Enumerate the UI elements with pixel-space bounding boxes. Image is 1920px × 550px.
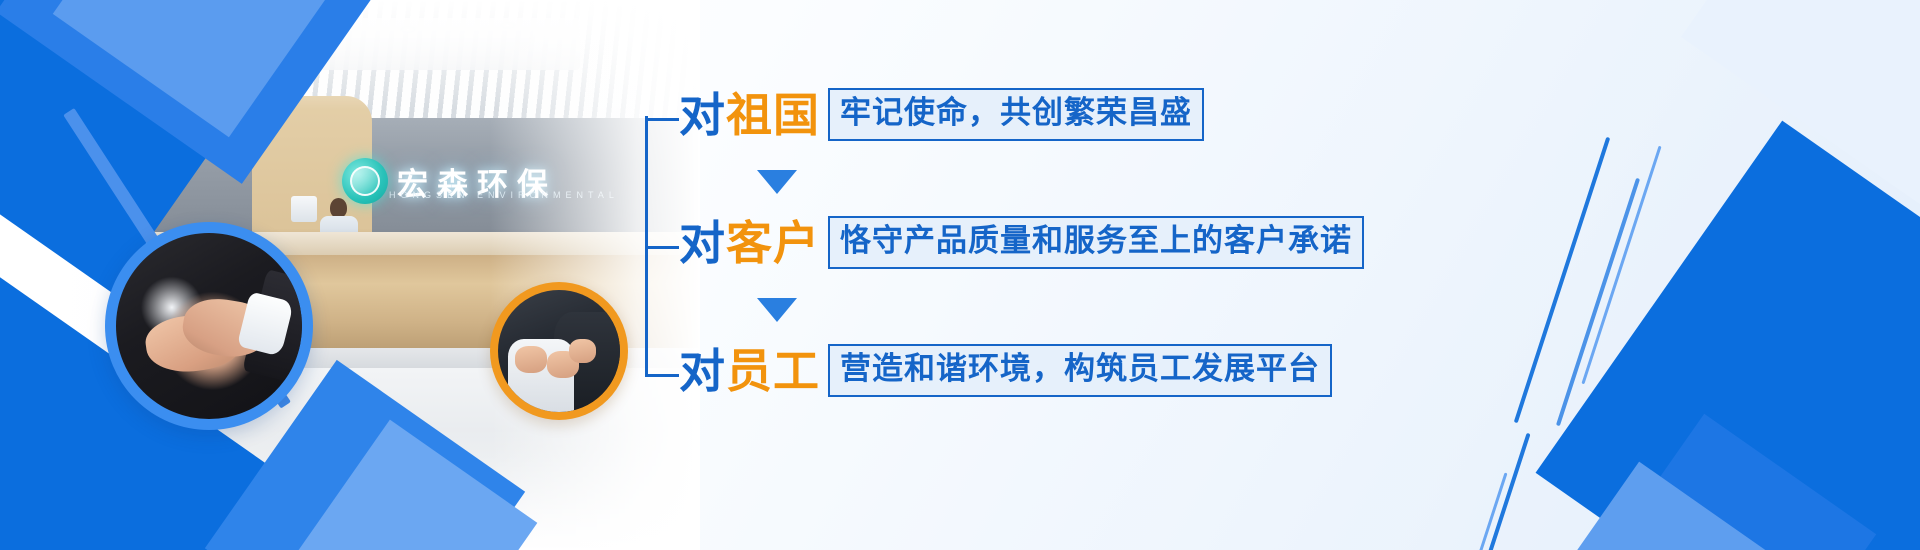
value-statement-customer: 恪守产品质量和服务至上的客户承诺 [828, 216, 1364, 269]
decor-line-2 [1556, 178, 1640, 427]
arrow-down-icon-2 [757, 298, 797, 322]
decor-line-4 [1483, 433, 1530, 550]
decor-line-1 [1514, 137, 1611, 424]
value-row-country: 对祖国 牢记使命，共创繁荣昌盛 [679, 88, 1204, 141]
decor-top-right-corner [1681, 0, 1920, 209]
company-values-banner: 宏森环保 HONGSEN ENVIRONMENTAL [0, 0, 1920, 550]
value-row-employee: 对员工 营造和谐环境，构筑员工发展平台 [679, 344, 1332, 397]
arrow-down-icon-1 [757, 170, 797, 194]
values-list: 对祖国 牢记使命，共创繁荣昌盛 对客户 恪守产品质量和服务至上的客户承诺 对员工… [645, 72, 1345, 422]
decor-line-3 [1581, 146, 1661, 385]
value-statement-country: 牢记使命，共创繁荣昌盛 [828, 88, 1204, 141]
decor-line-5 [1468, 472, 1508, 550]
office-photo: 宏森环保 HONGSEN ENVIRONMENTAL [0, 0, 700, 550]
bracket-tick-2 [645, 246, 679, 249]
value-statement-employee: 营造和谐环境，构筑员工发展平台 [828, 344, 1332, 397]
decor-bottom-right-light [1542, 462, 1779, 550]
value-key-country: 对祖国 [679, 92, 820, 138]
team-photo-circle [490, 282, 628, 420]
value-key-employee: 对员工 [679, 348, 820, 394]
bracket-tick-1 [645, 118, 679, 121]
value-row-customer: 对客户 恪守产品质量和服务至上的客户承诺 [679, 216, 1364, 269]
value-key-customer: 对客户 [679, 220, 820, 266]
decor-bottom-right-big [1536, 121, 1920, 550]
decor-bottom-right-mid [1584, 414, 1876, 550]
bracket-tick-3 [645, 374, 679, 377]
handshake-photo-circle [105, 222, 313, 430]
